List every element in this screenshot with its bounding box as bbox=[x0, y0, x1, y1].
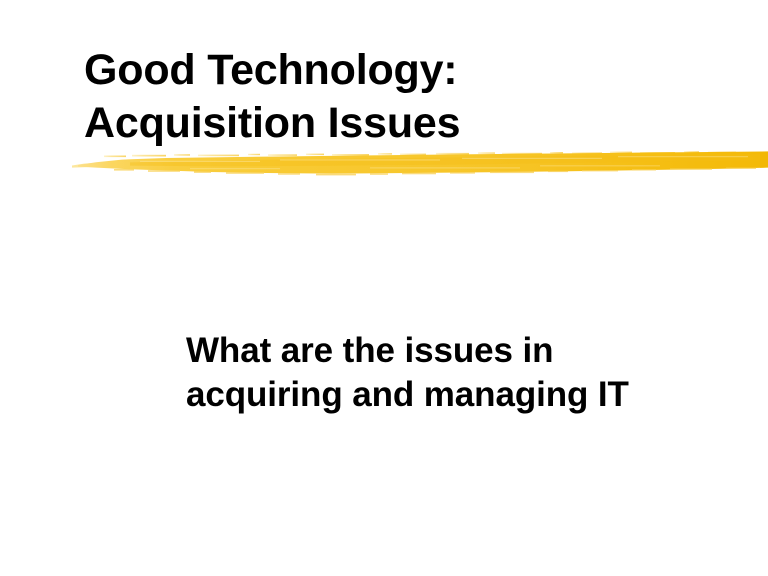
presentation-slide: Good Technology: Acquisition Issues bbox=[0, 0, 768, 576]
brush-right-tail bbox=[760, 152, 768, 168]
slide-title: Good Technology: Acquisition Issues bbox=[84, 44, 704, 150]
body-line-1: What are the issues in bbox=[186, 329, 746, 373]
body-line-2: acquiring and managing IT bbox=[186, 373, 746, 417]
brush-stroke-icon bbox=[70, 143, 768, 189]
slide-body-text: What are the issues in acquiring and man… bbox=[186, 329, 746, 417]
brush-stroke-divider bbox=[70, 143, 768, 189]
title-line-1: Good Technology: bbox=[84, 44, 704, 97]
